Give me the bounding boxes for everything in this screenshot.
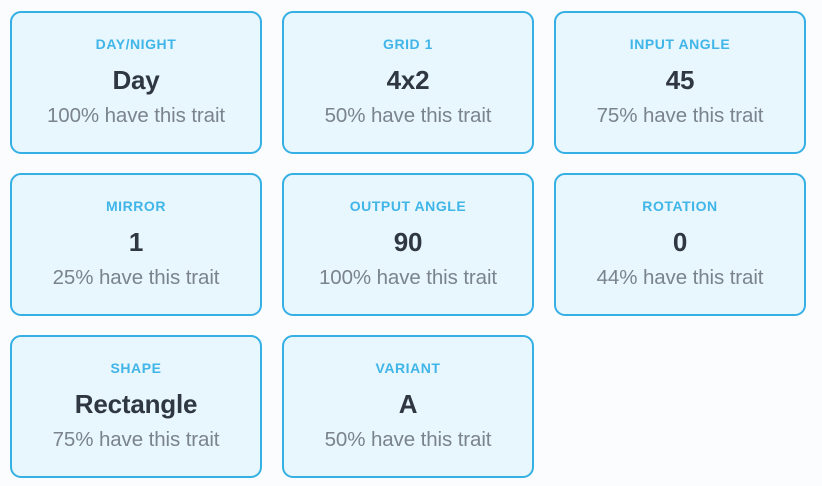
trait-label: INPUT ANGLE xyxy=(630,37,730,52)
trait-label: ROTATION xyxy=(642,199,717,214)
trait-card-variant[interactable]: VARIANT A 50% have this trait xyxy=(282,335,534,478)
trait-label: SHAPE xyxy=(111,361,162,376)
trait-value: A xyxy=(399,390,418,419)
trait-card-grid-1[interactable]: GRID 1 4x2 50% have this trait xyxy=(282,11,534,154)
trait-label: OUTPUT ANGLE xyxy=(350,199,467,214)
trait-rarity: 100% have this trait xyxy=(319,266,497,290)
trait-value: 45 xyxy=(666,66,695,95)
trait-value: Day xyxy=(112,66,159,95)
trait-rarity: 75% have this trait xyxy=(597,104,764,128)
trait-rarity: 100% have this trait xyxy=(47,104,225,128)
trait-card-mirror[interactable]: MIRROR 1 25% have this trait xyxy=(10,173,262,316)
trait-value: 4x2 xyxy=(387,66,430,95)
trait-card-day-night[interactable]: DAY/NIGHT Day 100% have this trait xyxy=(10,11,262,154)
trait-card-rotation[interactable]: ROTATION 0 44% have this trait xyxy=(554,173,806,316)
trait-rarity: 25% have this trait xyxy=(53,266,220,290)
trait-card-input-angle[interactable]: INPUT ANGLE 45 75% have this trait xyxy=(554,11,806,154)
trait-label: MIRROR xyxy=(106,199,166,214)
trait-rarity: 44% have this trait xyxy=(597,266,764,290)
trait-card-shape[interactable]: SHAPE Rectangle 75% have this trait xyxy=(10,335,262,478)
trait-rarity: 50% have this trait xyxy=(325,428,492,452)
trait-label: VARIANT xyxy=(375,361,440,376)
trait-grid: DAY/NIGHT Day 100% have this trait GRID … xyxy=(0,0,822,486)
trait-rarity: 75% have this trait xyxy=(53,428,220,452)
trait-value: 0 xyxy=(673,228,687,257)
trait-label: DAY/NIGHT xyxy=(96,37,177,52)
trait-value: 90 xyxy=(394,228,423,257)
trait-card-output-angle[interactable]: OUTPUT ANGLE 90 100% have this trait xyxy=(282,173,534,316)
trait-rarity: 50% have this trait xyxy=(325,104,492,128)
trait-value: Rectangle xyxy=(75,390,197,419)
trait-value: 1 xyxy=(129,228,143,257)
trait-label: GRID 1 xyxy=(383,37,433,52)
